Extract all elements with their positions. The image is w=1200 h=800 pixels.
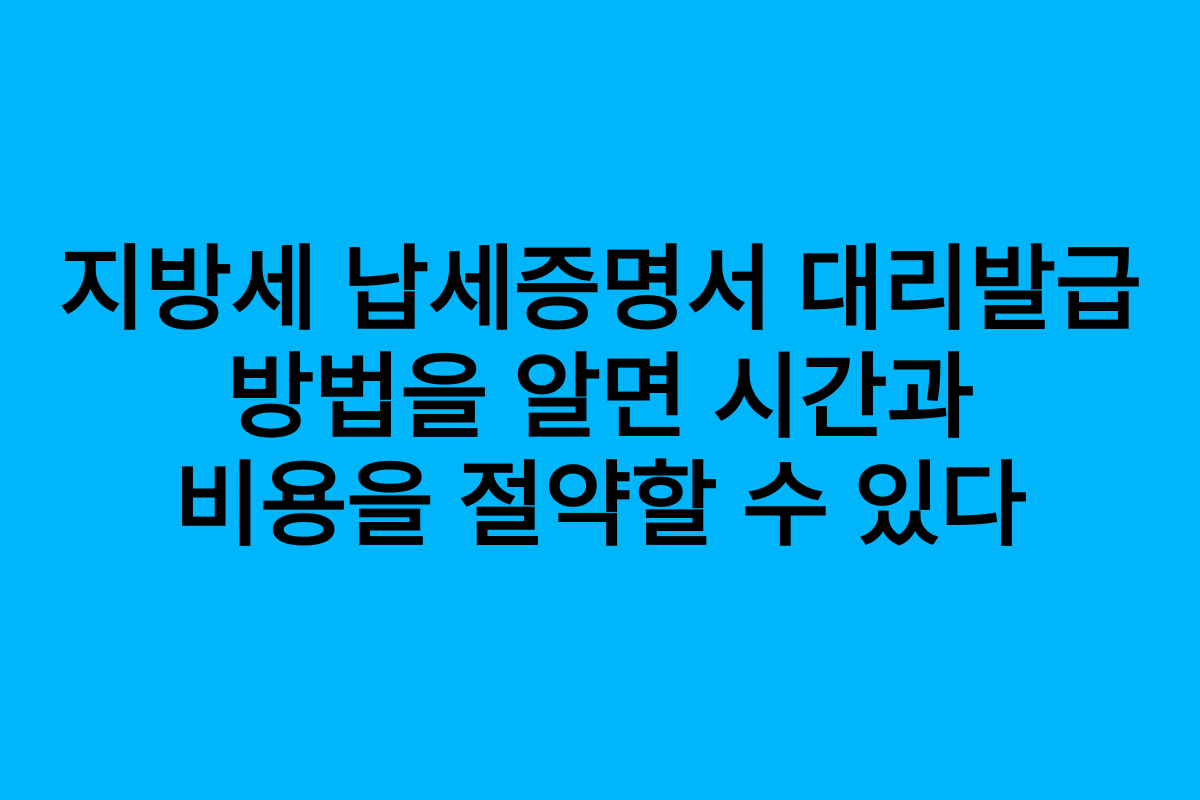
- headline-line-1: 지방세 납세증명서 대리발급: [0, 236, 1200, 344]
- page-title: 지방세 납세증명서 대리발급 방법을 알면 시간과 비용을 절약할 수 있다: [0, 236, 1200, 560]
- headline-line-3: 비용을 절약할 수 있다: [0, 452, 1200, 560]
- promo-banner: 지방세 납세증명서 대리발급 방법을 알면 시간과 비용을 절약할 수 있다: [0, 0, 1200, 800]
- headline-line-2: 방법을 알면 시간과: [0, 344, 1200, 452]
